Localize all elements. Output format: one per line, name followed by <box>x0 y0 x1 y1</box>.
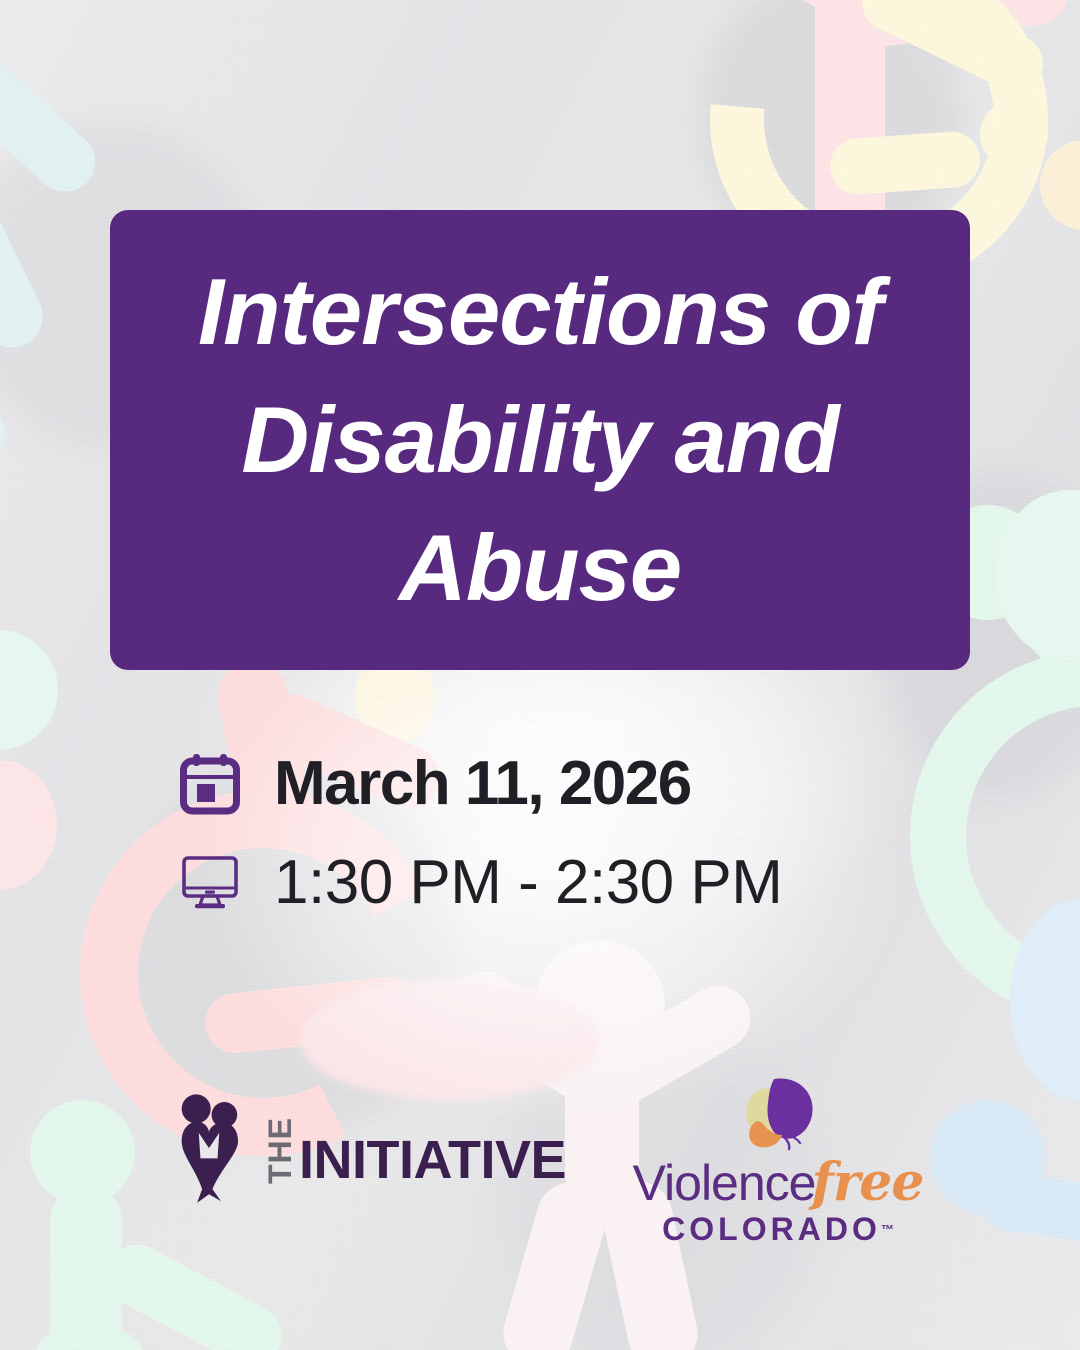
vfc-violence-text: Violence <box>633 1155 816 1211</box>
violence-free-wordmark: Violencefree <box>628 1157 928 1209</box>
page-title: Intersections of Disability and Abuse <box>198 248 882 631</box>
vfc-colorado-line: COLORADO™ <box>628 1211 928 1248</box>
detail-row-time: 1:30 PM - 2:30 PM <box>0 847 1080 918</box>
violence-free-colorado-logo: Violencefree COLORADO™ <box>628 1077 928 1248</box>
initiative-wordmark: THE INITIATIVE <box>264 1117 566 1186</box>
poster-canvas: Intersections of Disability and Abuse Ma… <box>0 0 1080 1350</box>
logo-row: THE INITIATIVE Violencefree COLORADO™ <box>0 1075 1080 1265</box>
monitor-icon <box>180 852 240 914</box>
calendar-icon <box>180 753 240 815</box>
vfc-free-text: free <box>811 1152 923 1213</box>
event-details: March 11, 2026 1:30 PM - 2:30 PM <box>0 748 1080 946</box>
vfc-trademark-symbol: ™ <box>881 1222 894 1237</box>
title-banner: Intersections of Disability and Abuse <box>110 210 970 670</box>
butterfly-icon <box>728 1077 828 1155</box>
detail-row-date: March 11, 2026 <box>0 748 1080 819</box>
two-people-ribbon-icon <box>168 1093 250 1210</box>
vfc-colorado-text: COLORADO <box>662 1211 881 1247</box>
event-date: March 11, 2026 <box>274 748 691 819</box>
the-initiative-logo: THE INITIATIVE <box>168 1093 566 1210</box>
initiative-name-text: INITIATIVE <box>299 1136 566 1186</box>
initiative-the-text: THE <box>264 1117 296 1184</box>
event-time: 1:30 PM - 2:30 PM <box>274 847 782 918</box>
